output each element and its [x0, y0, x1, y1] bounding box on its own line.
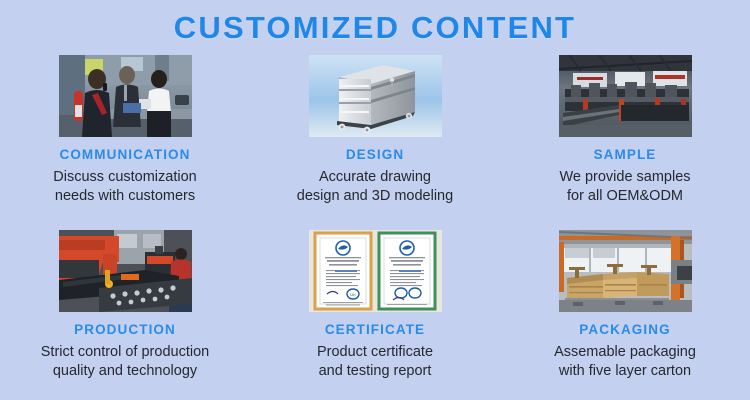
card-title-certificate: CERTIFICATE	[325, 323, 425, 337]
card-desc-sample: We provide samples for all OEM&ODM	[559, 168, 690, 206]
card-title-packaging: PACKAGING	[579, 323, 670, 337]
card-desc-communication: Discuss customization needs with custome…	[53, 168, 196, 206]
card-title-sample: SAMPLE	[594, 148, 657, 162]
card-title-design: DESIGN	[346, 148, 404, 162]
customized-content-banner: CUSTOMIZED CONTENT	[0, 0, 750, 400]
svg-text:UK: UK	[350, 292, 356, 297]
feature-card-design[interactable]: DESIGN Accurate drawing design and 3D mo…	[250, 55, 500, 227]
card-title-production: PRODUCTION	[74, 323, 176, 337]
card-title-communication: COMMUNICATION	[59, 148, 190, 162]
feature-card-certificate[interactable]: UK	[250, 230, 500, 400]
photo-factory-roll-forming-machines	[559, 55, 692, 137]
photo-cnc-punching-machine-worker	[59, 230, 192, 312]
photo-wooden-crates-warehouse	[559, 230, 692, 312]
feature-card-communication[interactable]: COMMUNICATION Discuss customization need…	[0, 55, 250, 227]
feature-grid: COMMUNICATION Discuss customization need…	[0, 55, 750, 400]
card-desc-design: Accurate drawing design and 3D modeling	[297, 168, 453, 206]
card-desc-production: Strict control of production quality and…	[41, 343, 209, 381]
feature-card-sample[interactable]: SAMPLE We provide samples for all OEM&OD…	[500, 55, 750, 227]
feature-card-packaging[interactable]: PACKAGING Assemable packaging with five …	[500, 230, 750, 400]
card-desc-certificate: Product certificate and testing report	[317, 343, 433, 381]
page-title: CUSTOMIZED CONTENT	[174, 11, 576, 45]
render-mobile-pedestal-cabinet	[309, 55, 442, 137]
feature-card-production[interactable]: PRODUCTION Strict control of production …	[0, 230, 250, 400]
card-desc-packaging: Assemable packaging with five layer cart…	[554, 343, 696, 381]
photo-communication-trade-show-staff	[59, 55, 192, 137]
photo-iso-certificates-pair: UK	[309, 230, 442, 312]
